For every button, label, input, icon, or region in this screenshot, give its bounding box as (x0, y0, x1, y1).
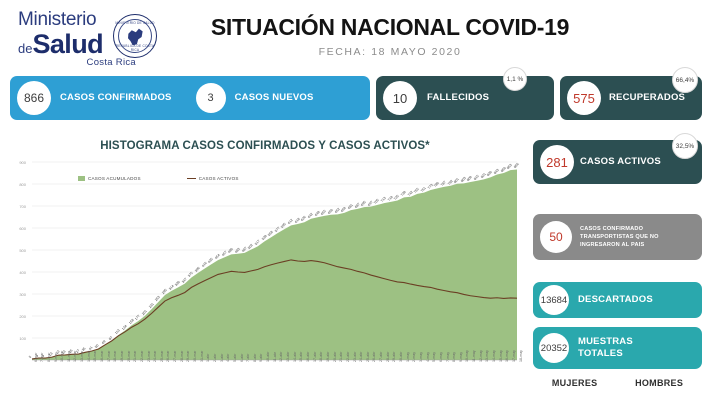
x-axis-tick: 12-mar (73, 351, 77, 362)
x-axis-tick: 20-mar (127, 351, 131, 362)
logo-salud-text: Salud (32, 29, 103, 59)
x-axis-tick: 25-mar (160, 351, 164, 362)
legend-swatch-activos-icon (187, 178, 196, 179)
recuperados-value-bubble: 575 (567, 81, 601, 115)
x-axis-tick: 10-mar (60, 351, 64, 362)
x-axis-tick: 4-abr (226, 354, 230, 362)
x-axis-tick: 3-abr (220, 354, 224, 362)
x-axis-tick: 12-may (479, 350, 483, 362)
legend-item-acumulados: CASOS ACUMULADOS (78, 176, 141, 181)
activos-value-bubble: 281 (540, 145, 574, 179)
y-axis-tick: 700 (10, 204, 26, 209)
x-axis-tick: 20-abr (333, 352, 337, 362)
x-axis-tick: 26-mar (166, 351, 170, 362)
card-descartados[interactable]: 13684 DESCARTADOS (533, 282, 702, 318)
confirmados-label: CASOS CONFIRMADOS (60, 93, 172, 104)
ministry-seal-icon: MINISTERIO DE SALUD REPUBLICA DE COSTA R… (113, 14, 157, 58)
recuperados-percent-badge: 66,4% (672, 67, 698, 93)
x-axis-tick: 26-abr (372, 352, 376, 362)
chart-legend: CASOS ACUMULADOS CASOS ACTIVOS (78, 176, 239, 181)
x-axis-tick: 17-mar (107, 351, 111, 362)
card-fallecidos[interactable]: 10 FALLECIDOS (376, 76, 554, 120)
activos-percent-badge: 32,5% (672, 133, 698, 159)
x-axis-tick: 4-may (426, 352, 430, 362)
nuevos-value: 3 (208, 92, 214, 104)
x-axis-tick: 13-abr (286, 352, 290, 362)
x-axis-tick: 3-may (419, 352, 423, 362)
fallecidos-label: FALLECIDOS (427, 93, 489, 104)
x-axis-tick: 15-may (499, 350, 503, 362)
x-axis-tick: 16-abr (306, 352, 310, 362)
seal-top-text: MINISTERIO DE SALUD (114, 21, 156, 25)
label-mujeres: MUJERES (552, 378, 598, 388)
x-axis-tick: 31-mar (200, 351, 204, 362)
x-axis-tick: 19-mar (120, 351, 124, 362)
x-axis-tick: 29-mar (186, 351, 190, 362)
report-date: FECHA: 18 MAYO 2020 (190, 46, 590, 58)
fallecidos-value-bubble: 10 (383, 81, 417, 115)
x-axis-tick: 30-mar (193, 351, 197, 362)
x-axis-tick: 13-may (485, 350, 489, 362)
x-axis-tick: 2-may (412, 352, 416, 362)
x-axis-tick: 11-may (472, 350, 476, 362)
x-axis-tick: 17-may (512, 350, 516, 362)
x-axis-tick: 7-abr (246, 354, 250, 362)
y-axis-tick: 400 (10, 270, 26, 275)
x-axis-tick: 14-abr (293, 352, 297, 362)
x-axis-tick: 12-abr (279, 352, 283, 362)
x-axis-tick: 16-mar (100, 351, 104, 362)
x-axis-tick: 14-mar (87, 351, 91, 362)
x-axis-tick: 25-abr (366, 352, 370, 362)
x-axis-tick: 24-mar (153, 351, 157, 362)
x-axis-tick: 19-abr (326, 352, 330, 362)
x-axis-tick: 9-mar (54, 353, 58, 362)
x-axis-tick: 28-abr (386, 352, 390, 362)
x-axis-tick: 11-abr (273, 352, 277, 362)
logo-de-text: de (18, 41, 32, 56)
histograma-chart: CASOS ACUMULADOS CASOS ACTIVOS 900800700… (8, 158, 523, 398)
legend-swatch-acumulados-icon (78, 176, 85, 181)
x-axis-tick: 27-mar (173, 351, 177, 362)
descartados-value: 13684 (541, 295, 567, 306)
x-axis-tick: 1-abr (206, 354, 210, 362)
x-axis-tick: 2-abr (213, 354, 217, 362)
x-axis-tick: 23-mar (147, 351, 151, 362)
x-axis-tick: 22-mar (140, 351, 144, 362)
legend-item-activos: CASOS ACTIVOS (187, 176, 239, 181)
x-axis-tick: 8-mar (47, 353, 51, 362)
y-axis-tick: 800 (10, 182, 26, 187)
x-axis-tick: 5-abr (233, 354, 237, 362)
x-axis-tick: 8-may (452, 352, 456, 362)
x-axis-tick: 21-mar (133, 351, 137, 362)
gender-legend: MUJERES HOMBRES (533, 378, 702, 388)
x-axis-tick: 18-may (519, 350, 523, 362)
page-title: SITUACIÓN NACIONAL COVID-19 (190, 14, 590, 41)
recuperados-label: RECUPERADOS (609, 93, 685, 104)
nuevos-value-bubble: 3 (196, 83, 226, 113)
x-axis-tick: 28-mar (180, 351, 184, 362)
x-axis-tick: 6-may (439, 352, 443, 362)
x-axis-tick: 17-abr (313, 352, 317, 362)
chart-svg (8, 158, 523, 398)
seal-bottom-text: REPUBLICA DE COSTA RICA (114, 44, 156, 52)
x-axis-tick: 11-mar (67, 351, 71, 362)
transportistas-value: 50 (549, 230, 562, 244)
x-axis-tick: 6-mar (34, 353, 38, 362)
y-axis-tick: 600 (10, 226, 26, 231)
x-axis-tick: 24-abr (359, 352, 363, 362)
x-axis-tick: 1-may (406, 352, 410, 362)
x-axis-tick: 21-abr (339, 352, 343, 362)
x-axis-tick: 18-mar (113, 351, 117, 362)
recuperados-value: 575 (573, 91, 595, 106)
x-axis-tick: 8-abr (253, 354, 257, 362)
transportistas-label: CASOS CONFIRMADO TRANSPORTISTAS QUE NO I… (580, 225, 692, 249)
legend-label-activos: CASOS ACTIVOS (199, 176, 239, 181)
x-axis-tick: 14-may (492, 350, 496, 362)
activos-value: 281 (546, 155, 568, 170)
muestras-value-bubble: 20352 (539, 333, 569, 363)
x-axis-tick: 10-abr (266, 352, 270, 362)
fallecidos-value: 10 (393, 91, 407, 106)
y-axis-tick: 200 (10, 314, 26, 319)
descartados-value-bubble: 13684 (539, 285, 569, 315)
muestras-value: 20352 (541, 343, 567, 354)
x-axis-tick: 30-abr (399, 352, 403, 362)
muestras-label: MUESTRAS TOTALES (578, 336, 658, 360)
x-axis-tick: 7-may (446, 352, 450, 362)
y-axis-tick: 900 (10, 160, 26, 165)
y-axis-tick: 100 (10, 336, 26, 341)
chart-title: HISTOGRAMA CASOS CONFIRMADOS Y CASOS ACT… (10, 140, 520, 152)
x-axis-tick: 7-mar (40, 353, 44, 362)
x-axis-tick: 23-abr (353, 352, 357, 362)
x-axis-tick: 6-abr (240, 354, 244, 362)
confirmados-value-bubble: 866 (17, 81, 51, 115)
x-axis-tick: 15-mar (93, 351, 97, 362)
card-casos-confirmados[interactable]: 866 CASOS CONFIRMADOS 3 CASOS NUEVOS (10, 76, 370, 120)
x-axis-tick: 10-may (465, 350, 469, 362)
x-axis-tick: 22-abr (346, 352, 350, 362)
transportistas-value-bubble: 50 (540, 221, 572, 253)
nuevos-label: CASOS NUEVOS (235, 93, 314, 104)
label-hombres: HOMBRES (635, 378, 683, 388)
x-axis-tick: 5-may (432, 352, 436, 362)
y-axis-tick: 300 (10, 292, 26, 297)
activos-label: CASOS ACTIVOS (580, 157, 661, 168)
fallecidos-percent-badge: 1,1 % (503, 67, 527, 91)
x-axis-tick: 13-mar (80, 351, 84, 362)
x-axis-tick: 16-may (505, 350, 509, 362)
legend-label-acumulados: CASOS ACUMULADOS (88, 176, 141, 181)
x-axis-tick: 18-abr (319, 352, 323, 362)
x-axis-tick: 15-abr (299, 352, 303, 362)
confirmados-value: 866 (24, 91, 44, 105)
card-muestras-totales[interactable]: 20352 MUESTRAS TOTALES (533, 327, 702, 369)
x-axis-tick: 9-may (459, 352, 463, 362)
descartados-label: DESCARTADOS (578, 295, 653, 306)
x-axis-tick: 27-abr (379, 352, 383, 362)
card-transportistas[interactable]: 50 CASOS CONFIRMADO TRANSPORTISTAS QUE N… (533, 214, 702, 260)
x-axis-tick: 9-abr (259, 354, 263, 362)
page-header: Ministerio deSalud Costa Rica MINISTERIO… (0, 0, 712, 66)
x-axis-tick: 29-abr (392, 352, 396, 362)
y-axis-tick: 500 (10, 248, 26, 253)
